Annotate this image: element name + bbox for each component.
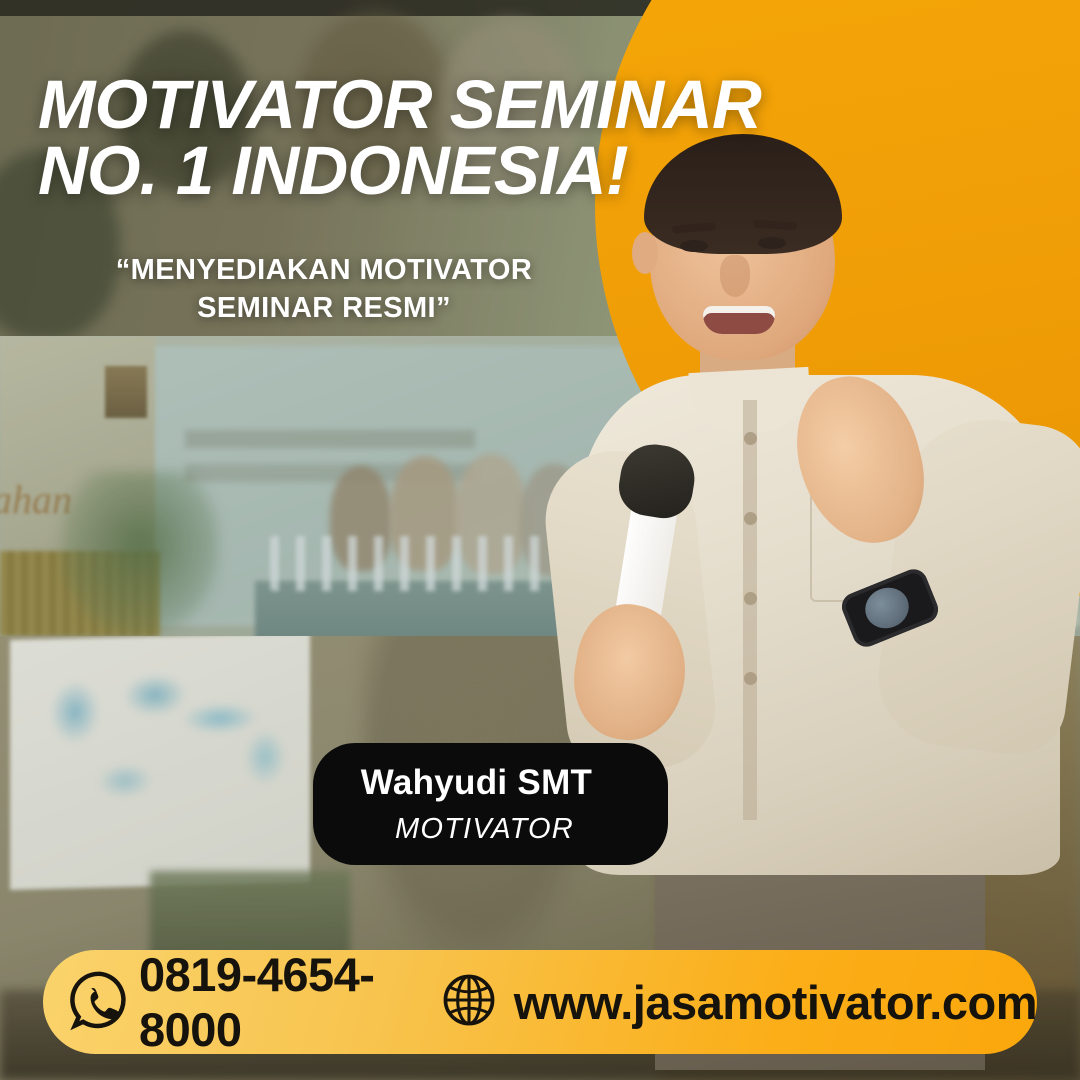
whatsapp-icon [69,969,131,1036]
globe-icon [440,971,498,1034]
subtitle-line-1: “MENYEDIAKAN MOTIVATOR [44,252,604,290]
phone-contact[interactable]: 0819-4654-8000 [43,947,400,1057]
speaker-name-badge: Wahyudi SMT MOTIVATOR [313,743,668,865]
speaker-eye [680,240,708,252]
map-graphic [35,646,300,843]
speaker-eye [758,237,786,249]
subtitle-line-2: SEMINAR RESMI” [44,290,604,328]
shirt-button [744,672,757,685]
projector-screen [10,636,310,890]
page-title: MOTIVATOR SEMINAR NO. 1 INDONESIA! [38,72,858,204]
poster-canvas: ahan [0,0,1080,1080]
speaker-mouth [703,306,775,334]
headline-line-1: MOTIVATOR SEMINAR [38,72,858,138]
website-contact[interactable]: www.jasamotivator.com [400,971,1037,1034]
phone-number: 0819-4654-8000 [139,947,400,1057]
speaker-ear [632,232,658,274]
shirt-placket [743,400,757,820]
contact-bar: 0819-4654-8000 www.jasamotivator.com [43,950,1037,1054]
wall-picture-frame [105,366,147,418]
foreground-plant [60,471,220,636]
speaker-nose [720,255,750,297]
shirt-button [744,512,757,525]
subtitle-tagline: “MENYEDIAKAN MOTIVATOR SEMINAR RESMI” [44,252,604,327]
speaker-portrait [560,120,1080,1050]
speaker-name: Wahyudi SMT [313,763,640,803]
headline-line-2: NO. 1 INDONESIA! [38,138,858,204]
shirt-button [744,592,757,605]
shirt-button [744,432,757,445]
speaker-role: MOTIVATOR [313,813,656,846]
website-url: www.jasamotivator.com [514,975,1037,1030]
